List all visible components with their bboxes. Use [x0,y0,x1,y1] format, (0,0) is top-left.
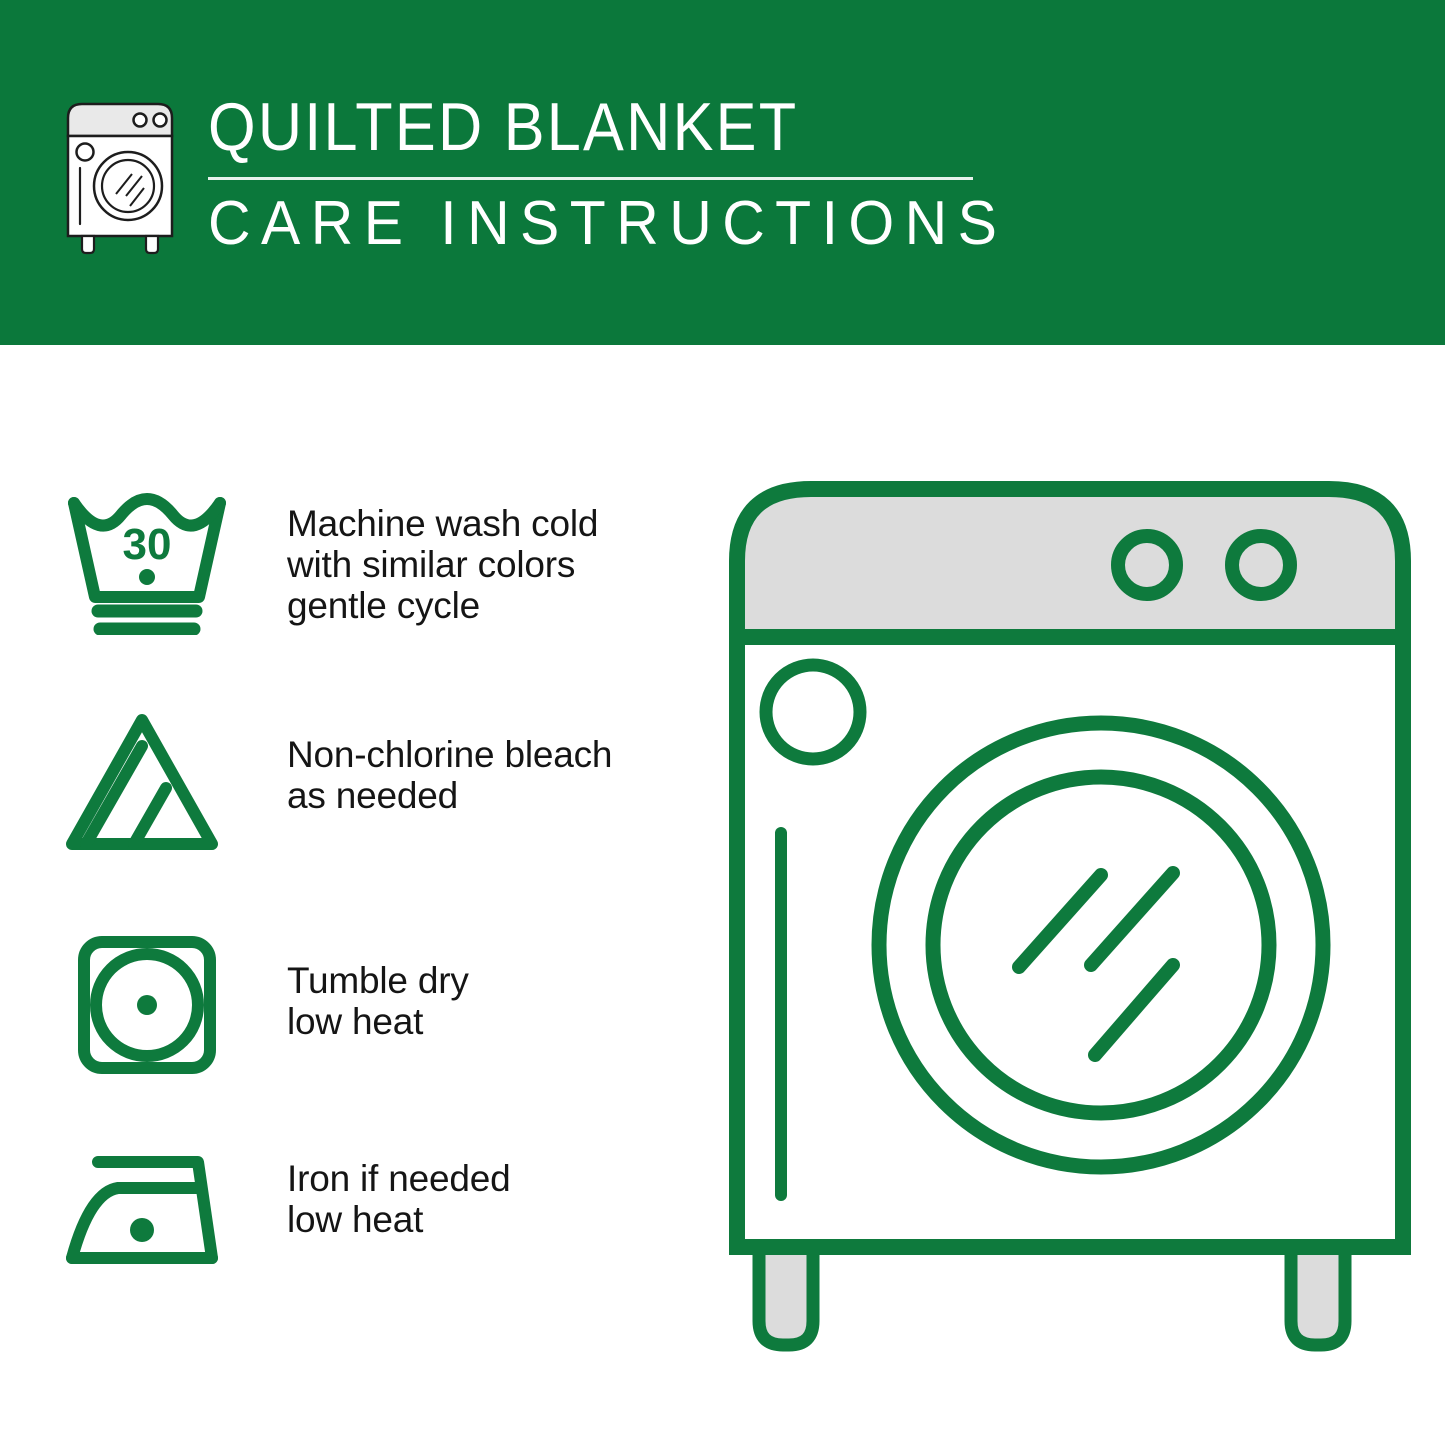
care-instructions-page: QUILTED BLANKET CARE INSTRUCTIONS [0,0,1445,1445]
list-item-label: Tumble dry low heat [287,960,469,1042]
large-washing-machine-illustration [715,465,1425,1365]
washing-machine-icon [60,96,180,256]
wash-temperature-value: 30 [123,520,172,569]
list-item-label: Machine wash cold with similar colors ge… [287,503,598,626]
list-item: Iron if needed low heat [62,1140,692,1300]
control-panel [737,489,1403,637]
list-item-label: Iron if needed low heat [287,1158,510,1240]
header-band: QUILTED BLANKET CARE INSTRUCTIONS [0,0,1445,345]
machine-leg [1291,1247,1345,1345]
iron-low-heat-icon [62,1140,232,1300]
machine-leg [759,1247,813,1345]
page-title: QUILTED BLANKET [208,90,965,164]
care-symbol-list: 30 Machine wash cold with similar colors… [0,345,700,1445]
knob [1118,536,1176,594]
title-divider [208,177,973,180]
knob [1232,536,1290,594]
list-item: 30 Machine wash cold with similar colors… [62,485,692,645]
non-chlorine-bleach-triangle-icon [62,710,232,870]
list-item-label: Non-chlorine bleach as needed [287,734,612,816]
header-content: QUILTED BLANKET CARE INSTRUCTIONS [60,88,1049,257]
tumble-dry-low-icon [62,930,232,1090]
header-titles: QUILTED BLANKET CARE INSTRUCTIONS [208,88,1049,257]
list-item: Non-chlorine bleach as needed [62,710,692,870]
list-item: Tumble dry low heat [62,930,692,1090]
page-subtitle: CARE INSTRUCTIONS [208,191,1007,257]
wash-tub-30-icon: 30 [62,485,232,645]
